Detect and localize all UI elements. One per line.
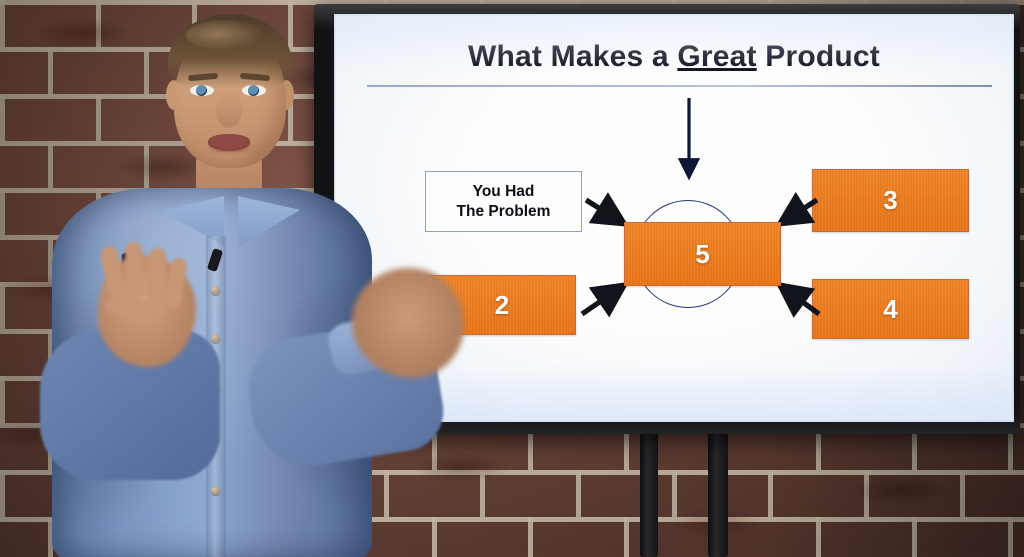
tv-stand-leg-left (640, 428, 658, 557)
presenter-iris-right (248, 85, 259, 96)
presenter-shirt-button-2 (211, 334, 220, 343)
presenter-shirt-button-5 (211, 486, 220, 495)
process-box-center-label: 5 (695, 239, 709, 270)
presentation-slide: What Makes a Great Product You Had The P… (334, 14, 1014, 422)
presenter-finger-2 (124, 242, 144, 301)
tv-stand-leg-right (708, 428, 728, 557)
presenter-mouth (208, 134, 250, 151)
presenter-hair-highlight (186, 20, 264, 50)
arrow-top-left (586, 200, 623, 223)
process-box-center: 5 (624, 222, 781, 286)
video-frame: What Makes a Great Product You Had The P… (0, 0, 1024, 557)
presenter-shirt-button-1 (211, 286, 220, 295)
presenter-eye-left (190, 85, 214, 96)
arrow-bottom-left (582, 286, 623, 314)
arrow-bottom-right (781, 286, 819, 314)
presenter-chin (196, 152, 264, 174)
arrow-layer (334, 14, 1014, 422)
presenter-nose (216, 92, 242, 128)
presenter-iris-left (196, 85, 207, 96)
arrow-top-right (781, 200, 817, 223)
television: What Makes a Great Product You Had The P… (314, 4, 1020, 434)
presenter-eye-right (242, 85, 266, 96)
